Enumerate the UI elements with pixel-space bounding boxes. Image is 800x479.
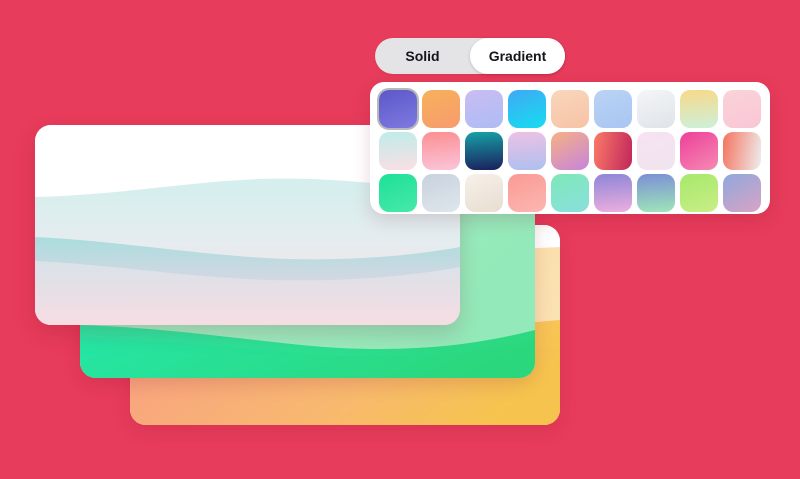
swatch-coral-pink[interactable] xyxy=(422,132,460,170)
swatch-aqua-blush[interactable] xyxy=(379,132,417,170)
swatch-apricot-orchid[interactable] xyxy=(551,132,589,170)
swatch-lavender-periwinkle[interactable] xyxy=(465,90,503,128)
swatch-powder-blue[interactable] xyxy=(594,90,632,128)
swatch-sky-cyan[interactable] xyxy=(508,90,546,128)
swatch-blush-rose[interactable] xyxy=(723,90,761,128)
swatch-violet-orchid[interactable] xyxy=(594,174,632,212)
swatch-indigo-spring[interactable] xyxy=(637,174,675,212)
swatch-cream-beige[interactable] xyxy=(465,174,503,212)
swatch-teal-navy[interactable] xyxy=(465,132,503,170)
swatch-amber-peach[interactable] xyxy=(422,90,460,128)
fill-type-toggle[interactable]: Solid Gradient xyxy=(375,38,565,74)
canvas: Solid Gradient xyxy=(0,0,800,479)
swatch-indigo-violet[interactable] xyxy=(379,90,417,128)
swatch-steel-mauve[interactable] xyxy=(723,174,761,212)
swatch-salmon-rose[interactable] xyxy=(508,174,546,212)
swatch-pale-pink-white[interactable] xyxy=(637,132,675,170)
swatch-lime-chartreuse[interactable] xyxy=(680,174,718,212)
gradient-palette-panel xyxy=(370,82,770,214)
swatch-white-silver[interactable] xyxy=(637,90,675,128)
swatch-magenta-pink[interactable] xyxy=(680,132,718,170)
toggle-option-solid[interactable]: Solid xyxy=(375,38,470,74)
swatch-butter-mint[interactable] xyxy=(680,90,718,128)
gradient-swatch-grid xyxy=(379,90,761,206)
swatch-slate-silver[interactable] xyxy=(422,174,460,212)
swatch-tangerine-gold[interactable] xyxy=(723,132,761,170)
swatch-emerald-mint[interactable] xyxy=(379,174,417,212)
swatch-pink-periwinkle[interactable] xyxy=(508,132,546,170)
swatch-mint-seafoam[interactable] xyxy=(551,174,589,212)
swatch-peach-cream[interactable] xyxy=(551,90,589,128)
toggle-option-gradient[interactable]: Gradient xyxy=(470,38,565,74)
swatch-coral-crimson[interactable] xyxy=(594,132,632,170)
